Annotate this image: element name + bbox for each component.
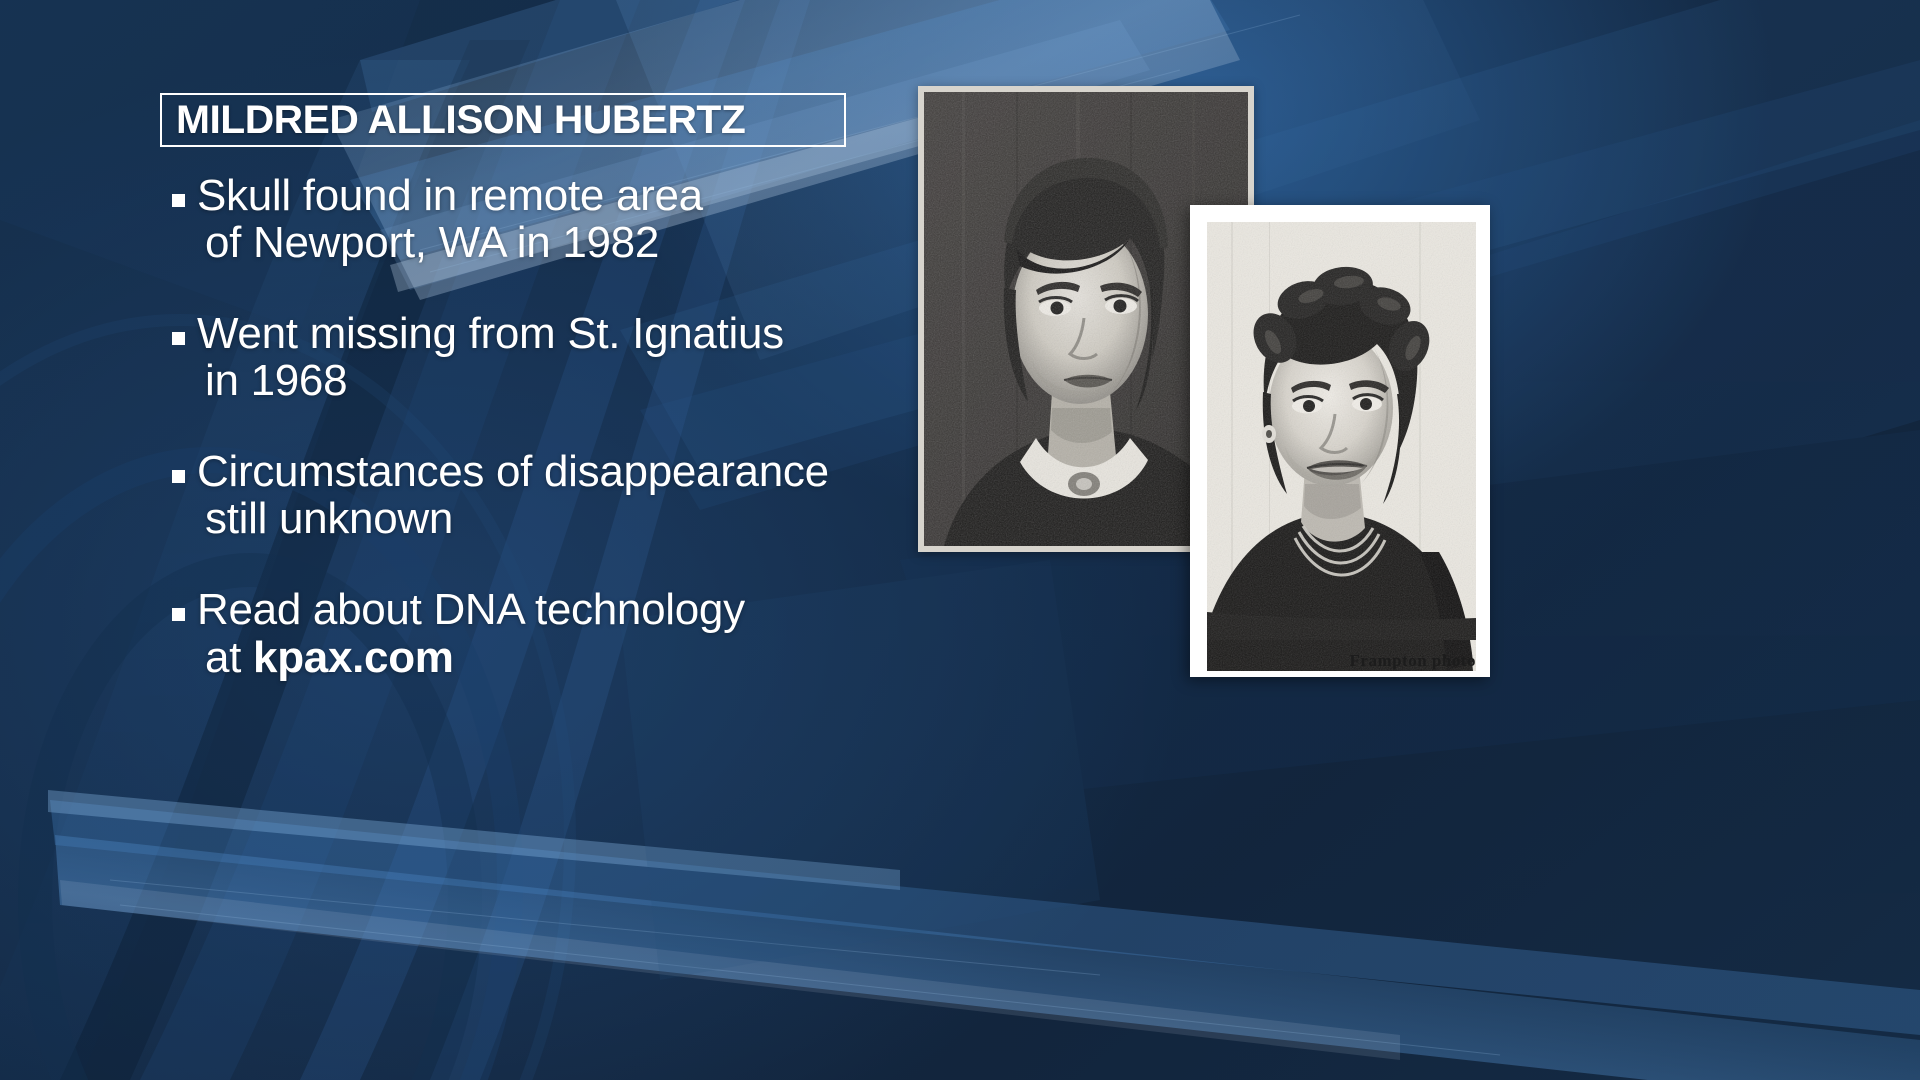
bullet-line-1: Went missing from St. Ignatius [197, 310, 932, 357]
bullet-list: Skull found in remote area of Newport, W… [172, 172, 932, 681]
news-graphic-slide: MILDRED ALLISON HUBERTZ Skull found in r… [0, 0, 1920, 1080]
list-item-text: Circumstances of disappearance still unk… [197, 448, 932, 542]
list-item: Skull found in remote area of Newport, W… [172, 172, 932, 266]
website-link[interactable]: kpax.com [253, 633, 454, 682]
bullet-line-1: Skull found in remote area [197, 172, 932, 219]
bullet-line-2: in 1968 [197, 357, 932, 404]
headline-box: MILDRED ALLISON HUBERTZ [160, 93, 846, 147]
bullet-line-2: still unknown [197, 495, 932, 542]
bullet-line-2-prefix: at [205, 633, 253, 682]
photo-credit-caption: Frampton photo [1350, 651, 1476, 671]
bullet-line-1: Circumstances of disappearance [197, 448, 932, 495]
bullet-line-1: Read about DNA technology [197, 586, 932, 633]
photo-image-area [1207, 222, 1476, 671]
square-bullet-icon [172, 332, 185, 404]
list-item-text: Skull found in remote area of Newport, W… [197, 172, 932, 266]
bullet-line-2: of Newport, WA in 1982 [197, 219, 932, 266]
square-bullet-icon [172, 470, 185, 542]
list-item: Circumstances of disappearance still unk… [172, 448, 932, 542]
list-item: Read about DNA technology at kpax.com [172, 586, 932, 680]
square-bullet-icon [172, 194, 185, 266]
list-item: Went missing from St. Ignatius in 1968 [172, 310, 932, 404]
bullet-line-2: at kpax.com [197, 634, 932, 681]
page-title: MILDRED ALLISON HUBERTZ [176, 100, 745, 140]
list-item-text: Went missing from St. Ignatius in 1968 [197, 310, 932, 404]
older-woman-portrait-photo: Frampton photo [1190, 205, 1490, 677]
list-item-text: Read about DNA technology at kpax.com [197, 586, 932, 680]
square-bullet-icon [172, 608, 185, 680]
